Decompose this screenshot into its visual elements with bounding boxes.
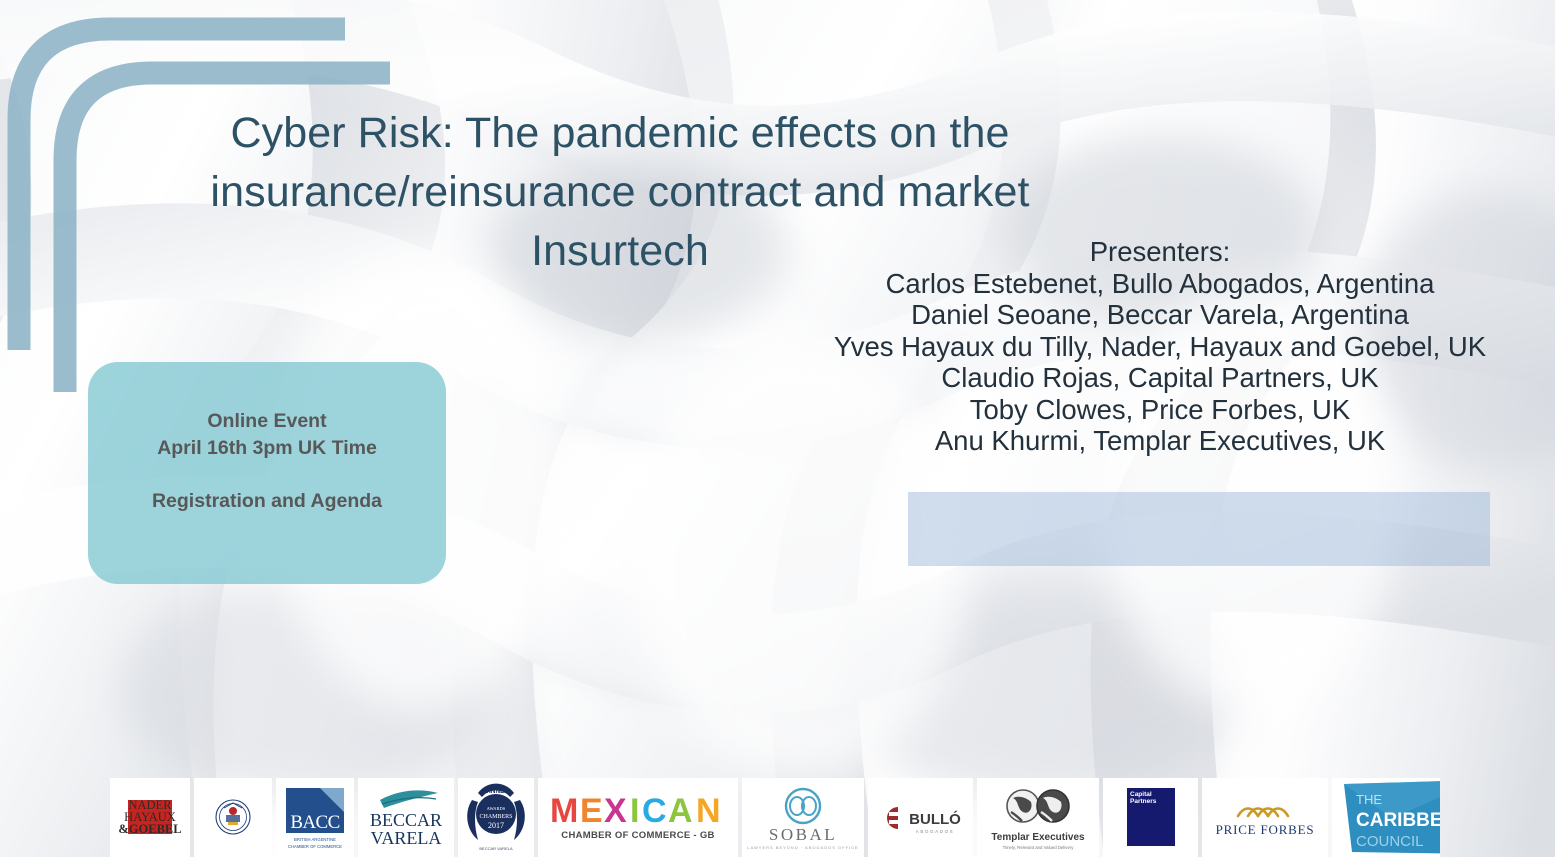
svg-text:CHAMBER OF COMMERCE - GB: CHAMBER OF COMMERCE - GB	[561, 830, 714, 841]
svg-text:·WINNER·: ·WINNER·	[481, 788, 512, 795]
svg-text:THE: THE	[1356, 792, 1382, 807]
svg-text:CARIBBEAN: CARIBBEAN	[1356, 810, 1440, 831]
svg-text:E: E	[580, 792, 603, 830]
presentation-slide: Cyber Risk: The pandemic effects on the …	[0, 0, 1555, 857]
svg-text:SOBAL: SOBAL	[769, 825, 837, 844]
blue-accent-band	[908, 492, 1490, 566]
svg-text:PRICE FORBES: PRICE FORBES	[1216, 822, 1315, 837]
svg-text:Capital: Capital	[1130, 791, 1152, 798]
svg-text:I: I	[630, 792, 639, 830]
event-info-text: Online Event April 16th 3pm UK Time Regi…	[88, 408, 446, 514]
logo-bullo: BULLÓ ABOGADOS	[868, 778, 973, 857]
svg-text:BECCAR VARELA: BECCAR VARELA	[479, 846, 513, 851]
presenter-item: Anu Khurmi, Templar Executives, UK	[800, 425, 1520, 457]
presenter-item: Carlos Estebenet, Bullo Abogados, Argent…	[800, 268, 1520, 300]
svg-text:BACC: BACC	[290, 812, 339, 833]
logo-beccar-varela: BECCAR VARELA	[358, 778, 454, 857]
svg-text:VARELA: VARELA	[371, 828, 442, 848]
svg-text:BECCAR: BECCAR	[370, 810, 442, 830]
svg-text:Partners: Partners	[1130, 798, 1157, 805]
svg-text:ABOGADOS: ABOGADOS	[916, 829, 955, 834]
logo-nader-hayaux-goebel: NADER HAYAUX &GOEBEL	[110, 778, 190, 857]
svg-text:N: N	[696, 792, 721, 830]
event-info-box: Online Event April 16th 3pm UK Time Regi…	[88, 362, 446, 584]
logo-sobal: SOBAL LAWYERS BEYOND · ABOGADOS OFFICE	[742, 778, 864, 857]
svg-text:AWARDS: AWARDS	[487, 806, 506, 811]
presenter-item: Toby Clowes, Price Forbes, UK	[800, 394, 1520, 426]
svg-text:CHAMBERS: CHAMBERS	[479, 814, 512, 820]
presenters-heading: Presenters:	[800, 236, 1520, 268]
logo-mexican-chamber-of-commerce: M E X I C A N CHAMBER OF COMMERCE - GB	[538, 778, 738, 857]
presenter-item: Yves Hayaux du Tilly, Nader, Hayaux and …	[800, 331, 1520, 363]
svg-text:BRITISH ARGENTINE: BRITISH ARGENTINE	[294, 837, 336, 842]
svg-text:2017: 2017	[488, 821, 504, 830]
logo-chambers-winner-2017: ·WINNER· AWARDS CHAMBERS 2017 BECCAR VAR…	[458, 778, 534, 857]
sponsor-logo-strip: NADER HAYAUX &GOEBEL BACC	[110, 778, 1440, 857]
logo-the-caribbean-council: THE CARIBBEAN COUNCIL	[1332, 778, 1440, 857]
presenter-item: Daniel Seoane, Beccar Varela, Argentina	[800, 299, 1520, 331]
logo-capital-partners: Capital Partners	[1103, 778, 1198, 857]
logo-bacc: BACC BRITISH ARGENTINE CHAMBER OF COMMER…	[276, 778, 354, 857]
svg-text:LAWYERS BEYOND · ABOGADOS OFFI: LAWYERS BEYOND · ABOGADOS OFFICE	[747, 845, 858, 850]
svg-text:CHAMBER OF COMMERCE: CHAMBER OF COMMERCE	[288, 844, 342, 849]
logo-templar-executives: Templar Executives Timely, Relevant and …	[977, 778, 1099, 857]
svg-text:Timely, Relevant and Valued De: Timely, Relevant and Valued Delivery	[1003, 845, 1075, 850]
svg-text:&GOEBEL: &GOEBEL	[118, 822, 181, 836]
svg-text:A: A	[668, 792, 693, 830]
presenter-item: Claudio Rojas, Capital Partners, UK	[800, 362, 1520, 394]
svg-text:X: X	[604, 792, 627, 830]
svg-text:C: C	[642, 792, 667, 830]
svg-text:Templar Executives: Templar Executives	[991, 832, 1085, 843]
svg-text:COUNCIL: COUNCIL	[1356, 833, 1424, 850]
presenters-block: Presenters: Carlos Estebenet, Bullo Abog…	[800, 236, 1520, 457]
logo-price-forbes: PRICE FORBES	[1202, 778, 1328, 857]
svg-text:BULLÓ: BULLÓ	[909, 810, 961, 828]
logo-seal-emblem	[194, 778, 272, 857]
svg-text:M: M	[550, 792, 578, 830]
